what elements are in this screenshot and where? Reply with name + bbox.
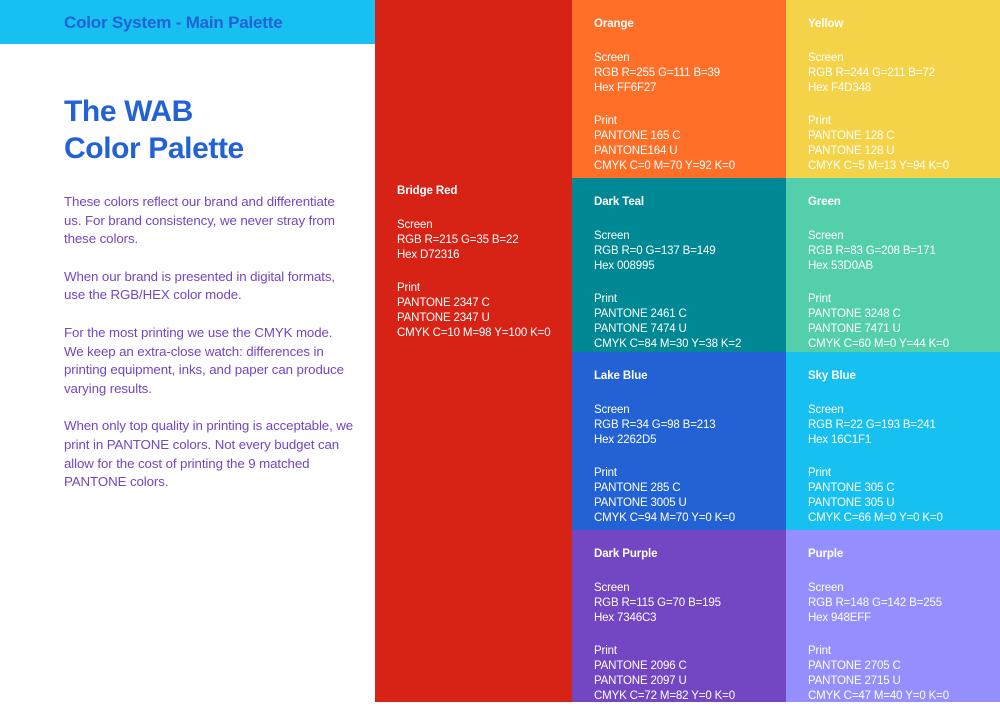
- cmyk-values: CMYK C=47 M=40 Y=0 K=0: [808, 689, 978, 702]
- screen-rgb: RGB R=244 G=211 B=72: [808, 66, 978, 81]
- swatch-screen-group: Screen RGB R=34 G=98 B=213 Hex 2262D5: [594, 403, 764, 449]
- swatch-print-group: Print PANTONE 3248 C PANTONE 7471 U CMYK…: [808, 292, 978, 352]
- swatch-print-group: Print PANTONE 2461 C PANTONE 7474 U CMYK…: [594, 292, 764, 352]
- screen-rgb: RGB R=83 G=208 B=171: [808, 244, 978, 259]
- swatch-print-group: Print PANTONE 2096 C PANTONE 2097 U CMYK…: [594, 644, 764, 702]
- swatch-name: Yellow: [808, 18, 978, 30]
- pantone-coated: PANTONE 2705 C: [808, 659, 978, 674]
- swatch-screen-group: Screen RGB R=215 G=35 B=22 Hex D72316: [397, 218, 550, 264]
- swatch-print-group: Print PANTONE 285 C PANTONE 3005 U CMYK …: [594, 466, 764, 527]
- swatch-sky-blue: Sky Blue Screen RGB R=22 G=193 B=241 Hex…: [786, 352, 1000, 530]
- pantone-uncoated: PANTONE 128 U: [808, 144, 978, 159]
- cmyk-values: CMYK C=66 M=0 Y=0 K=0: [808, 511, 978, 526]
- pantone-coated: PANTONE 2347 C: [397, 296, 550, 311]
- swatch-grid: Bridge Red Screen RGB R=215 G=35 B=22 He…: [375, 0, 1000, 702]
- swatch-print-group: Print PANTONE 2347 C PANTONE 2347 U CMYK…: [397, 281, 550, 342]
- print-label: Print: [594, 466, 764, 481]
- cmyk-values: CMYK C=0 M=70 Y=92 K=0: [594, 159, 764, 174]
- swatch-green: Green Screen RGB R=83 G=208 B=171 Hex 53…: [786, 178, 1000, 352]
- screen-label: Screen: [397, 218, 550, 233]
- swatch-dark-teal: Dark Teal Screen RGB R=0 G=137 B=149 Hex…: [572, 178, 786, 352]
- swatch-screen-group: Screen RGB R=83 G=208 B=171 Hex 53D0AB: [808, 229, 978, 275]
- screen-hex: Hex 008995: [594, 259, 764, 274]
- screen-hex: Hex 948EFF: [808, 611, 978, 626]
- page-title: The WAB Color Palette: [64, 93, 354, 167]
- pantone-uncoated: PANTONE 2347 U: [397, 311, 550, 326]
- screen-rgb: RGB R=115 G=70 B=195: [594, 596, 764, 611]
- screen-label: Screen: [808, 51, 978, 66]
- swatch-purple: Purple Screen RGB R=148 G=142 B=255 Hex …: [786, 530, 1000, 702]
- swatch-print-group: Print PANTONE 305 C PANTONE 305 U CMYK C…: [808, 466, 978, 527]
- screen-rgb: RGB R=0 G=137 B=149: [594, 244, 764, 259]
- print-label: Print: [808, 466, 978, 481]
- pantone-coated: PANTONE 128 C: [808, 129, 978, 144]
- pantone-uncoated: PANTONE 3005 U: [594, 496, 764, 511]
- pantone-uncoated: PANTONE 7471 U: [808, 322, 978, 337]
- screen-label: Screen: [594, 581, 764, 596]
- screen-rgb: RGB R=22 G=193 B=241: [808, 418, 978, 433]
- swatch-screen-group: Screen RGB R=22 G=193 B=241 Hex 16C1F1: [808, 403, 978, 449]
- pantone-coated: PANTONE 165 C: [594, 129, 764, 144]
- swatch-print-group: Print PANTONE 2705 C PANTONE 2715 U CMYK…: [808, 644, 978, 702]
- swatch-screen-group: Screen RGB R=255 G=111 B=39 Hex FF6F27: [594, 51, 764, 97]
- print-label: Print: [594, 114, 764, 129]
- print-label: Print: [397, 281, 550, 296]
- print-label: Print: [594, 644, 764, 659]
- swatch-name: Orange: [594, 18, 764, 30]
- screen-label: Screen: [594, 51, 764, 66]
- pantone-coated: PANTONE 2461 C: [594, 307, 764, 322]
- screen-hex: Hex F4D348: [808, 81, 978, 96]
- screen-label: Screen: [808, 403, 978, 418]
- pantone-uncoated: PANTONE 2715 U: [808, 674, 978, 689]
- screen-hex: Hex FF6F27: [594, 81, 764, 96]
- pantone-coated: PANTONE 3248 C: [808, 307, 978, 322]
- cmyk-values: CMYK C=94 M=70 Y=0 K=0: [594, 511, 764, 526]
- swatch-print-group: Print PANTONE 165 C PANTONE164 U CMYK C=…: [594, 114, 764, 175]
- print-label: Print: [808, 292, 978, 307]
- swatch-yellow: Yellow Screen RGB R=244 G=211 B=72 Hex F…: [786, 0, 1000, 178]
- screen-rgb: RGB R=34 G=98 B=213: [594, 418, 764, 433]
- screen-rgb: RGB R=215 G=35 B=22: [397, 233, 550, 248]
- screen-label: Screen: [808, 229, 978, 244]
- screen-label: Screen: [808, 581, 978, 596]
- screen-label: Screen: [594, 229, 764, 244]
- swatch-name: Lake Blue: [594, 370, 764, 382]
- cmyk-values: CMYK C=84 M=30 Y=38 K=2: [594, 337, 764, 352]
- intro-paragraph-3: For the most printing we use the CMYK mo…: [64, 324, 354, 398]
- cmyk-values: CMYK C=72 M=82 Y=0 K=0: [594, 689, 764, 702]
- pantone-uncoated: PANTONE 2097 U: [594, 674, 764, 689]
- screen-hex: Hex 2262D5: [594, 433, 764, 448]
- print-label: Print: [808, 114, 978, 129]
- screen-rgb: RGB R=255 G=111 B=39: [594, 66, 764, 81]
- swatch-screen-group: Screen RGB R=0 G=137 B=149 Hex 008995: [594, 229, 764, 275]
- swatch-bridge-red: Bridge Red Screen RGB R=215 G=35 B=22 He…: [375, 0, 572, 702]
- intro-paragraph-2: When our brand is presented in digital f…: [64, 268, 354, 305]
- screen-label: Screen: [594, 403, 764, 418]
- cmyk-values: CMYK C=10 M=98 Y=100 K=0: [397, 326, 550, 341]
- swatch-name: Green: [808, 196, 978, 208]
- pantone-coated: PANTONE 285 C: [594, 481, 764, 496]
- screen-hex: Hex D72316: [397, 248, 550, 263]
- intro-block: The WAB Color Palette These colors refle…: [64, 93, 354, 492]
- intro-paragraph-1: These colors reflect our brand and diffe…: [64, 193, 354, 249]
- intro-paragraph-4: When only top quality in printing is acc…: [64, 417, 354, 491]
- pantone-uncoated: PANTONE 7474 U: [594, 322, 764, 337]
- swatch-name: Bridge Red: [397, 185, 550, 197]
- swatch-name: Purple: [808, 548, 978, 560]
- print-label: Print: [808, 644, 978, 659]
- swatch-name: Dark Teal: [594, 196, 764, 208]
- swatch-print-group: Print PANTONE 128 C PANTONE 128 U CMYK C…: [808, 114, 978, 175]
- page-title-line-2: Color Palette: [64, 130, 354, 167]
- print-label: Print: [594, 292, 764, 307]
- swatch-screen-group: Screen RGB R=148 G=142 B=255 Hex 948EFF: [808, 581, 978, 627]
- pantone-uncoated: PANTONE 305 U: [808, 496, 978, 511]
- screen-hex: Hex 53D0AB: [808, 259, 978, 274]
- swatch-screen-group: Screen RGB R=244 G=211 B=72 Hex F4D348: [808, 51, 978, 97]
- screen-rgb: RGB R=148 G=142 B=255: [808, 596, 978, 611]
- screen-hex: Hex 16C1F1: [808, 433, 978, 448]
- page-title-line-1: The WAB: [64, 93, 354, 130]
- cmyk-values: CMYK C=5 M=13 Y=94 K=0: [808, 159, 978, 174]
- pantone-coated: PANTONE 305 C: [808, 481, 978, 496]
- page-header-title: Color System - Main Palette: [64, 13, 283, 33]
- pantone-uncoated: PANTONE164 U: [594, 144, 764, 159]
- color-palette-page: Color System - Main Palette The WAB Colo…: [0, 0, 1000, 707]
- swatch-screen-group: Screen RGB R=115 G=70 B=195 Hex 7346C3: [594, 581, 764, 627]
- swatch-name: Dark Purple: [594, 548, 764, 560]
- swatch-lake-blue: Lake Blue Screen RGB R=34 G=98 B=213 Hex…: [572, 352, 786, 530]
- pantone-coated: PANTONE 2096 C: [594, 659, 764, 674]
- swatch-orange: Orange Screen RGB R=255 G=111 B=39 Hex F…: [572, 0, 786, 178]
- swatch-name: Sky Blue: [808, 370, 978, 382]
- cmyk-values: CMYK C=60 M=0 Y=44 K=0: [808, 337, 978, 352]
- screen-hex: Hex 7346C3: [594, 611, 764, 626]
- swatch-dark-purple: Dark Purple Screen RGB R=115 G=70 B=195 …: [572, 530, 786, 702]
